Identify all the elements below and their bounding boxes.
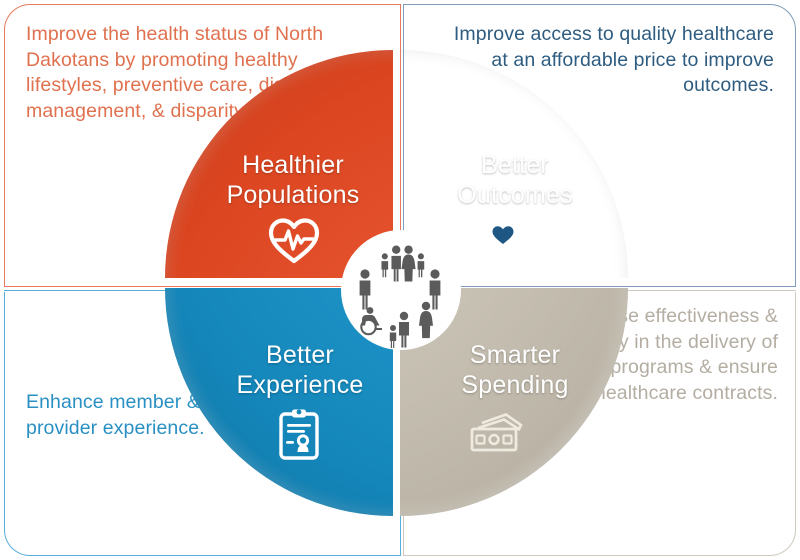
- quadrant-diagram: Improve the health status of North Dakot…: [0, 0, 800, 560]
- people-ring-icon: [343, 232, 459, 348]
